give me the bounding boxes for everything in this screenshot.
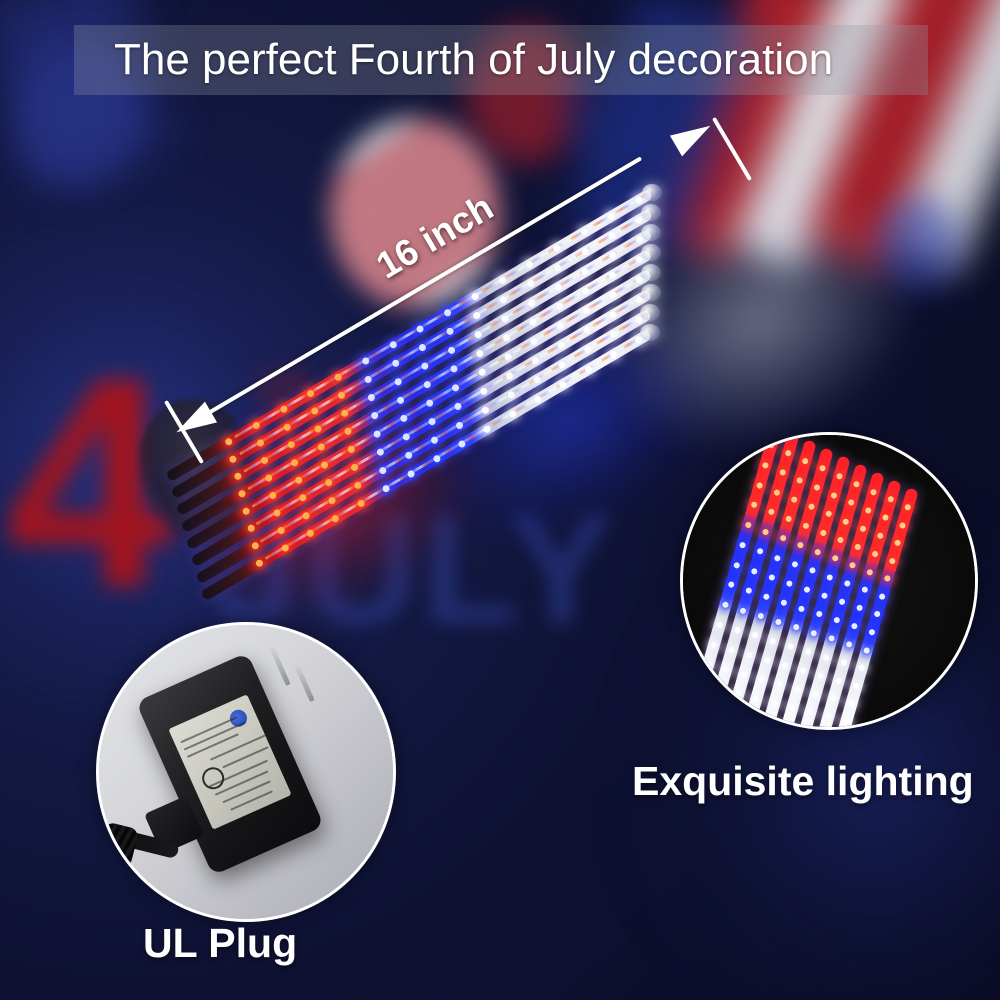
led-dot xyxy=(350,463,360,473)
led-dot xyxy=(505,371,515,381)
inset-led-dot xyxy=(873,611,880,618)
inset-led-dot xyxy=(785,449,792,456)
led-dot xyxy=(250,541,260,551)
inset-led-dot xyxy=(747,714,754,721)
inset-led-dot xyxy=(693,701,700,708)
inset-led-dot xyxy=(843,718,850,725)
led-dot xyxy=(356,499,366,509)
inset-led-dot xyxy=(782,662,789,669)
led-dot xyxy=(302,511,312,521)
led-dot xyxy=(224,437,234,447)
inset-led-dot xyxy=(809,567,816,574)
led-dot xyxy=(531,356,541,366)
inset-led-dot xyxy=(791,561,798,568)
headline-text: The perfect Fourth of July decoration xyxy=(74,35,833,85)
led-dot xyxy=(609,330,619,340)
inset-led-dot xyxy=(792,624,799,631)
led-dot xyxy=(272,508,282,518)
led-dot xyxy=(256,438,266,448)
inset-led-dot xyxy=(722,601,729,608)
inset-led-dot xyxy=(838,598,845,605)
led-dot xyxy=(503,352,513,362)
led-dot xyxy=(498,276,508,286)
inset-led-dot xyxy=(757,612,764,619)
inset-led-dot xyxy=(887,496,894,503)
inset-led-dot xyxy=(716,621,723,628)
inset-led-dot xyxy=(803,586,810,593)
inset-ul-plug xyxy=(96,622,396,922)
inset-led-dot xyxy=(763,593,770,600)
product-image: 4 th JULY The perfect Fourth of July dec… xyxy=(0,0,1000,1000)
led-dot xyxy=(343,427,353,437)
inset-led-dot xyxy=(764,656,771,663)
inset-led-dot xyxy=(746,651,753,658)
led-dot xyxy=(306,389,316,399)
led-dot xyxy=(607,251,617,261)
inset-led-dot xyxy=(825,510,832,517)
led-dot xyxy=(557,360,567,370)
led-dot xyxy=(396,395,406,405)
inset-led-dot xyxy=(768,441,775,448)
led-dot xyxy=(445,327,455,337)
led-dot xyxy=(500,314,510,324)
led-dot xyxy=(242,506,252,516)
inset-led-dot xyxy=(826,573,833,580)
led-dot xyxy=(279,405,289,415)
led-dot xyxy=(375,447,385,457)
led-dot xyxy=(364,375,374,385)
led-dot xyxy=(310,406,320,416)
inset-led-dot xyxy=(768,574,775,581)
inset-led-dot xyxy=(740,671,747,678)
led-dot xyxy=(558,380,568,390)
inset-led-dot xyxy=(819,465,826,472)
inset-led-dot xyxy=(705,661,712,668)
led-dot xyxy=(237,489,247,499)
led-dot xyxy=(420,361,430,371)
inset-led-dot xyxy=(861,586,868,593)
led-dot xyxy=(416,324,426,334)
inset-led-dot xyxy=(789,704,796,711)
led-dot xyxy=(361,356,371,366)
inset-led-dot xyxy=(820,529,827,536)
led-dot xyxy=(583,345,593,355)
inset-led-dot xyxy=(734,627,741,634)
inset-led-dot xyxy=(823,653,830,660)
inset-led-dot xyxy=(830,491,837,498)
inset-led-dot xyxy=(825,713,832,720)
led-dot xyxy=(298,493,308,503)
led-dot xyxy=(331,514,341,524)
inset-led-dot xyxy=(756,548,763,555)
inset-led-dot xyxy=(798,605,805,612)
inset-led-dot xyxy=(836,473,843,480)
inset-led-dot xyxy=(758,676,765,683)
inset-led-dot xyxy=(790,496,797,503)
inset-led-dot xyxy=(859,525,866,532)
led-dot xyxy=(528,317,538,327)
inset-led-dot xyxy=(894,539,901,546)
inset-led-dot xyxy=(863,646,870,653)
inset-led-dot xyxy=(877,532,884,539)
inset-led-dot xyxy=(722,666,729,673)
inset-led-dot xyxy=(728,646,735,653)
inset-led-dot xyxy=(878,593,885,600)
caption-ul-plug: UL Plug xyxy=(143,920,297,967)
led-dot xyxy=(283,422,293,432)
led-dot xyxy=(449,364,459,374)
inset-led-dot xyxy=(808,503,815,510)
led-dot xyxy=(324,478,334,488)
inset-led-dot xyxy=(805,648,812,655)
inset-led-dot xyxy=(833,617,840,624)
led-dot xyxy=(404,451,414,461)
led-dot xyxy=(607,211,617,221)
led-dot xyxy=(609,350,619,360)
led-dot xyxy=(555,302,565,312)
caption-exquisite-lighting: Exquisite lighting xyxy=(632,758,974,805)
led-dot xyxy=(607,231,617,241)
inset-led-dot xyxy=(899,521,906,528)
inset-led-dot xyxy=(745,521,752,528)
inset-led-dot xyxy=(904,504,911,511)
led-dot xyxy=(391,359,401,369)
led-dot xyxy=(479,386,489,396)
led-dot xyxy=(407,469,417,479)
inset-led-dot xyxy=(799,667,806,674)
inset-led-dot xyxy=(733,561,740,568)
inset-led-dot xyxy=(810,629,817,636)
led-dot xyxy=(313,424,323,434)
led-dot xyxy=(608,310,618,320)
inset-led-dot xyxy=(865,506,872,513)
inset-led-dot xyxy=(711,705,718,712)
led-dot xyxy=(280,543,290,553)
inset-led-dot xyxy=(844,580,851,587)
inset-led-dot xyxy=(842,518,849,525)
inset-led-dot xyxy=(753,695,760,702)
tube-end-cap xyxy=(641,244,661,261)
inset-led-dot xyxy=(762,461,769,468)
inset-led-dot xyxy=(751,567,758,574)
led-dot xyxy=(353,481,363,491)
led-dot xyxy=(477,368,487,378)
led-dot xyxy=(474,330,484,340)
inset-led-dot xyxy=(771,699,778,706)
led-dot xyxy=(429,436,439,446)
led-dot xyxy=(251,421,261,431)
led-dot xyxy=(337,390,347,400)
inset-led-dot xyxy=(797,541,804,548)
led-dot xyxy=(432,454,442,464)
inset-led-dot xyxy=(870,488,877,495)
tube-end-cap xyxy=(641,264,661,281)
inset-led-dot xyxy=(868,628,875,635)
inset-led-dot xyxy=(814,548,821,555)
led-dot xyxy=(305,529,315,539)
led-dot xyxy=(233,472,243,482)
inset-led-dot xyxy=(750,501,757,508)
led-dot xyxy=(255,558,265,568)
inset-led-dot xyxy=(773,489,780,496)
led-dot xyxy=(276,526,286,536)
led-dot xyxy=(340,409,350,419)
inset-led-dot xyxy=(717,686,724,693)
inset-led-dot xyxy=(853,682,860,689)
led-dot xyxy=(526,279,536,289)
led-dot xyxy=(333,372,343,382)
led-dot xyxy=(370,411,380,421)
inset-led-dot xyxy=(858,664,865,671)
inset-led-dot xyxy=(775,618,782,625)
led-dot xyxy=(584,365,594,375)
inset-led-dot xyxy=(821,592,828,599)
inset-led-dot xyxy=(889,557,896,564)
led-dot xyxy=(470,292,480,302)
led-dot xyxy=(264,473,274,483)
led-dot xyxy=(481,405,491,415)
inset-led-dot xyxy=(786,580,793,587)
led-dot xyxy=(268,491,278,501)
inset-led-dot xyxy=(871,550,878,557)
led-dot xyxy=(525,260,535,270)
led-dot xyxy=(527,298,537,308)
inset-led-dot xyxy=(812,690,819,697)
led-dot xyxy=(475,349,485,359)
inset-led-dot xyxy=(853,480,860,487)
inset-led-dot xyxy=(866,568,873,575)
inset-led-dot xyxy=(735,690,742,697)
led-dot xyxy=(580,227,590,237)
inset-led-dot xyxy=(729,710,736,717)
inset-led-dot xyxy=(817,672,824,679)
led-dot xyxy=(508,409,518,419)
led-dot xyxy=(581,267,591,277)
inset-led-dot xyxy=(831,555,838,562)
inset-led-dot xyxy=(854,543,861,550)
led-dot xyxy=(608,290,618,300)
led-dot xyxy=(506,390,516,400)
led-dot xyxy=(320,460,330,470)
led-dot xyxy=(552,244,562,254)
tube-end-cap xyxy=(642,184,662,201)
led-dot xyxy=(246,524,256,534)
inset-led-dot xyxy=(794,685,801,692)
led-dot xyxy=(290,458,300,468)
led-dot xyxy=(582,325,592,335)
inset-led-dot xyxy=(774,554,781,561)
inset-led-dot xyxy=(739,607,746,614)
led-dot xyxy=(451,383,461,393)
led-dot xyxy=(532,375,542,385)
led-dot xyxy=(581,286,591,296)
led-dot xyxy=(327,496,337,506)
inset-led-dot xyxy=(699,681,706,688)
inset-led-dot xyxy=(768,508,775,515)
tube-end-cap xyxy=(641,204,661,221)
led-dot xyxy=(367,393,377,403)
led-dot xyxy=(425,398,435,408)
led-dot xyxy=(401,432,411,442)
led-dot xyxy=(381,484,391,494)
led-dot xyxy=(499,295,509,305)
inset-led-dot xyxy=(845,641,852,648)
inset-led-dot xyxy=(856,604,863,611)
tube-end-cap xyxy=(641,284,661,301)
led-dot xyxy=(388,340,398,350)
inset-led-dot xyxy=(762,528,769,535)
inset-led-dot xyxy=(813,484,820,491)
inset-led-dot xyxy=(840,659,847,666)
inset-led-dot xyxy=(751,632,758,639)
led-dot xyxy=(608,271,618,281)
inset-led-dot xyxy=(882,514,889,521)
led-dot xyxy=(423,380,433,390)
led-dot xyxy=(553,263,563,273)
led-dot xyxy=(346,445,356,455)
led-dot xyxy=(372,429,382,439)
led-dot xyxy=(554,282,564,292)
led-dot xyxy=(286,440,296,450)
inset-led-dot xyxy=(710,641,717,648)
led-dot xyxy=(260,456,270,466)
led-dot xyxy=(472,311,482,321)
led-dot xyxy=(294,475,304,485)
tube-end-cap xyxy=(641,224,661,241)
inset-led-dot xyxy=(802,457,809,464)
led-dot xyxy=(418,343,428,353)
inset-led-dot xyxy=(727,581,734,588)
led-dot xyxy=(533,395,543,405)
led-dot xyxy=(378,466,388,476)
inset-led-dot xyxy=(802,522,809,529)
inset-led-dot xyxy=(785,515,792,522)
inset-led-dot xyxy=(765,718,772,725)
inset-led-dot xyxy=(739,541,746,548)
led-dot xyxy=(457,439,467,449)
inset-led-dot xyxy=(851,623,858,630)
inset-led-dot xyxy=(756,481,763,488)
inset-led-dot xyxy=(847,499,854,506)
inset-led-dot xyxy=(796,476,803,483)
inset-led-dot xyxy=(837,536,844,543)
led-dot xyxy=(557,341,567,351)
led-dot xyxy=(582,306,592,316)
inset-led-dot xyxy=(835,677,842,684)
led-dot xyxy=(502,333,512,343)
led-dot xyxy=(427,417,437,427)
led-dot xyxy=(393,377,403,387)
led-dot xyxy=(317,442,327,452)
inset-led-dot xyxy=(779,469,786,476)
inset-led-dot xyxy=(779,535,786,542)
led-dot xyxy=(447,345,457,355)
led-dot xyxy=(455,420,465,430)
inset-led-dot xyxy=(769,637,776,644)
inset-led-dot xyxy=(787,643,794,650)
inset-led-dot xyxy=(780,599,787,606)
led-dot xyxy=(453,402,463,412)
led-dot xyxy=(580,247,590,257)
inset-led-dot xyxy=(830,695,837,702)
inset-led-dot xyxy=(807,708,814,715)
inset-led-dot xyxy=(776,680,783,687)
led-dot xyxy=(556,321,566,331)
led-dot xyxy=(228,454,238,464)
inset-led-dot xyxy=(745,587,752,594)
inset-led-dot xyxy=(848,700,855,707)
inset-led-dot xyxy=(815,611,822,618)
led-dot xyxy=(482,424,492,434)
inset-led-dot xyxy=(849,562,856,569)
inset-exquisite-lighting xyxy=(680,432,978,730)
led-dot xyxy=(399,414,409,424)
headline-banner: The perfect Fourth of July decoration xyxy=(74,25,928,95)
led-dot xyxy=(530,337,540,347)
led-dot xyxy=(443,308,453,318)
inset-led-dot xyxy=(884,575,891,582)
inset-led-dot xyxy=(828,635,835,642)
